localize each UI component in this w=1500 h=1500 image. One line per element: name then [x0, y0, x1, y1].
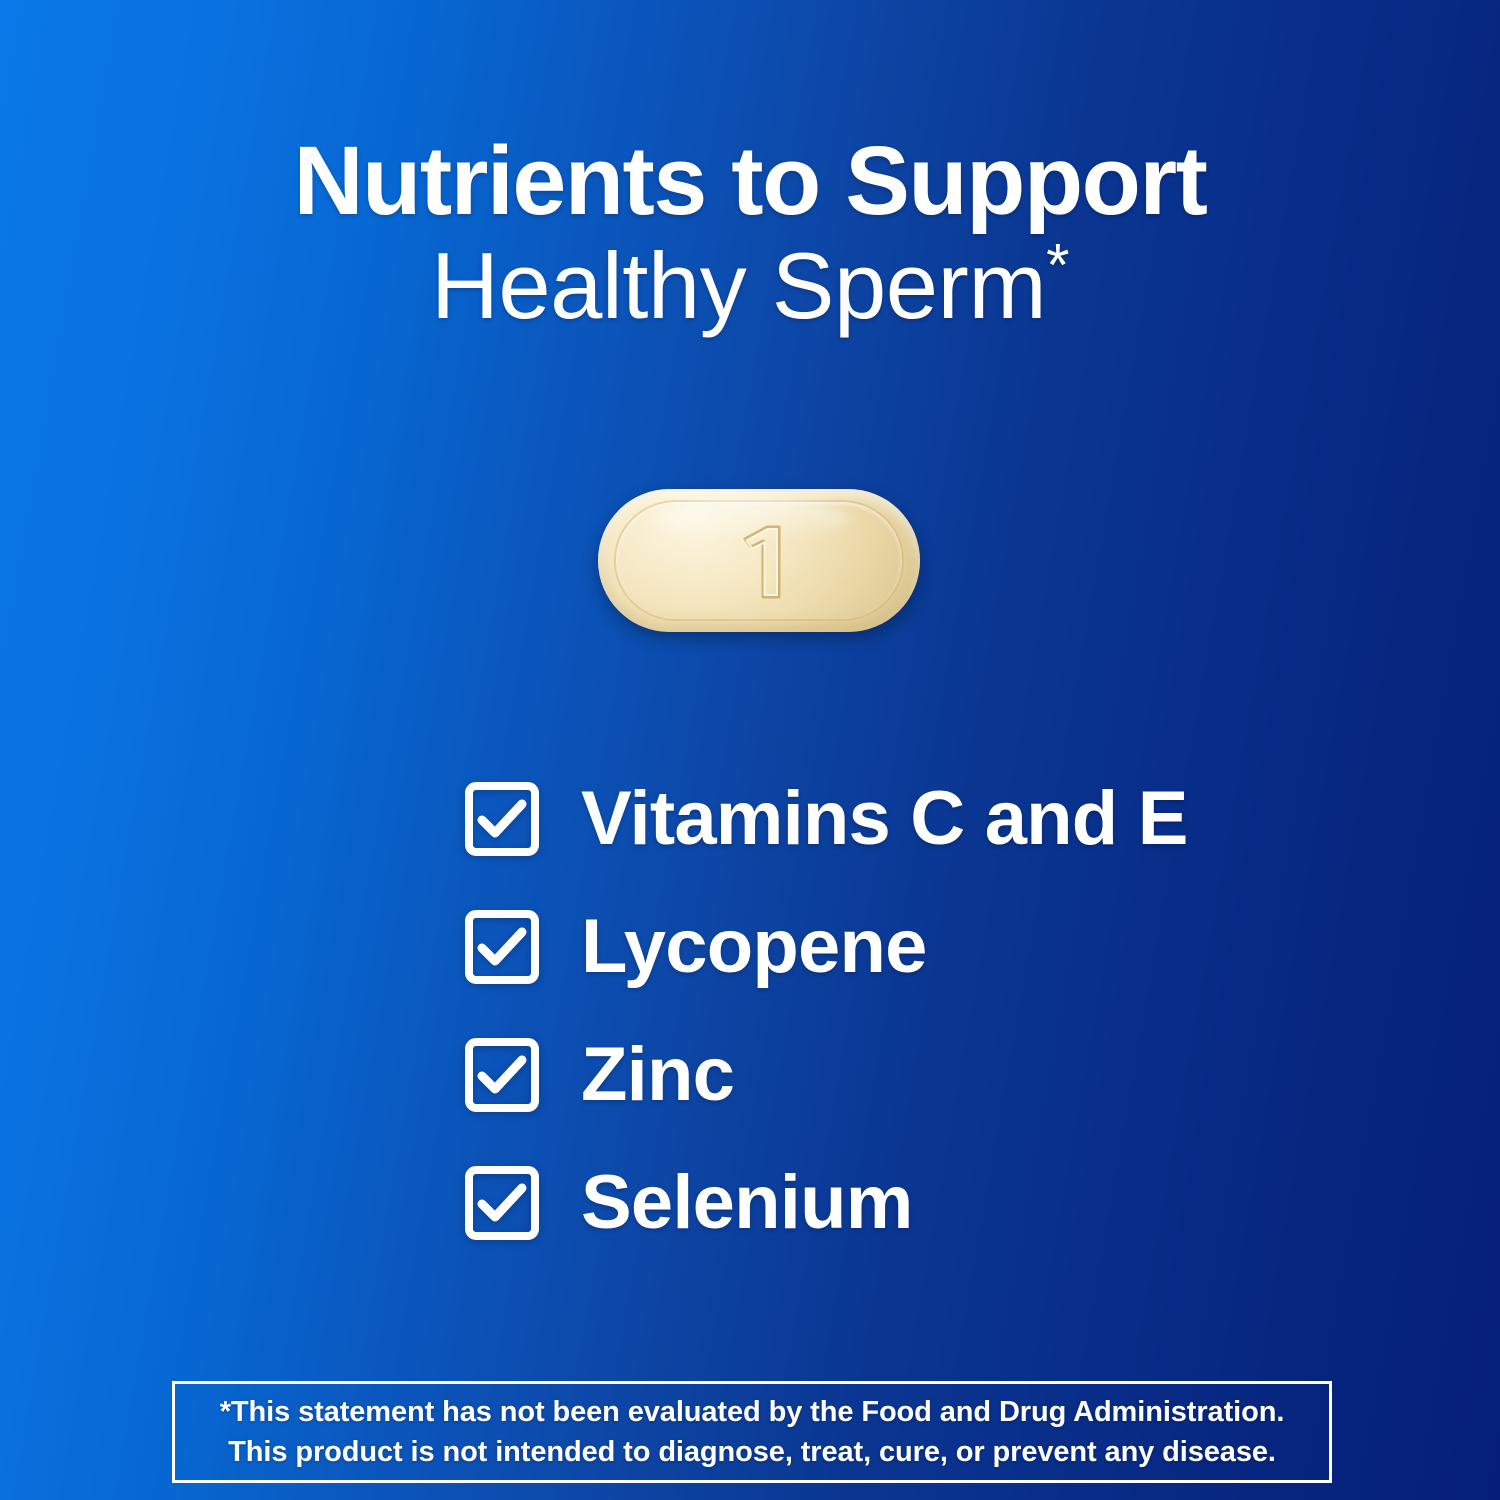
checkbox-checked-icon[interactable] [465, 1038, 539, 1112]
benefit-label: Lycopene [581, 909, 927, 985]
product-pill-image [598, 489, 920, 632]
disclaimer-line-1: *This statement has not been evaluated b… [220, 1392, 1285, 1432]
promo-banner: Nutrients to Support Healthy Sperm* Vita… [0, 0, 1500, 1500]
headline-asterisk: * [1046, 232, 1069, 299]
benefits-checklist: Vitamins C and E Lycopene Zinc [465, 782, 1188, 1240]
pill-body [598, 489, 920, 632]
checkbox-checked-icon[interactable] [465, 910, 539, 984]
benefit-item[interactable]: Lycopene [465, 910, 1188, 984]
benefit-item[interactable]: Vitamins C and E [465, 782, 1188, 856]
checkbox-checked-icon[interactable] [465, 1166, 539, 1240]
benefit-label: Vitamins C and E [581, 781, 1188, 857]
benefit-item[interactable]: Selenium [465, 1166, 1188, 1240]
fda-disclaimer-box: *This statement has not been evaluated b… [172, 1381, 1332, 1483]
disclaimer-line-2: This product is not intended to diagnose… [228, 1432, 1276, 1472]
headline-primary: Nutrients to Support [0, 132, 1500, 231]
benefit-label: Selenium [581, 1165, 912, 1241]
headline-block: Nutrients to Support Healthy Sperm* [0, 132, 1500, 336]
pill-imprint-one-icon [727, 523, 791, 601]
benefit-label: Zinc [581, 1037, 734, 1113]
checkbox-checked-icon[interactable] [465, 782, 539, 856]
headline-secondary-text: Healthy Sperm [431, 233, 1046, 338]
benefit-item[interactable]: Zinc [465, 1038, 1188, 1112]
headline-secondary: Healthy Sperm* [0, 237, 1500, 336]
